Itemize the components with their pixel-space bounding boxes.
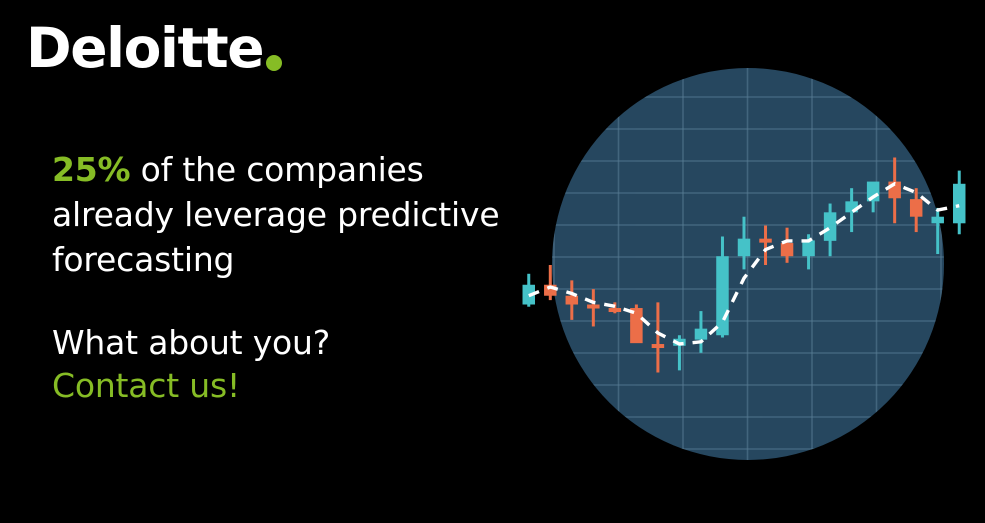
candle-body — [931, 217, 943, 224]
candle-body — [781, 243, 793, 256]
candle-body — [609, 308, 621, 312]
cta-action-link[interactable]: Contact us! — [52, 364, 502, 408]
candle-body — [759, 239, 771, 243]
headline: 25% of the companies already leverage pr… — [52, 148, 502, 283]
stat-value: 25% — [52, 150, 130, 189]
candlestick-chart — [500, 25, 985, 498]
candle-body — [652, 344, 664, 348]
candle-body — [566, 296, 578, 305]
candle-body — [587, 305, 599, 309]
cta-block: What about you? Contact us! — [52, 321, 502, 408]
cta-question: What about you? — [52, 321, 502, 365]
candlestick-chart-svg — [500, 25, 985, 498]
logo-wordmark: Deloitte — [26, 21, 263, 76]
deloitte-logo: Deloitte — [26, 21, 282, 76]
candle-body — [716, 256, 728, 335]
candle-body — [910, 199, 922, 217]
candle-body — [738, 239, 750, 257]
candle-body — [695, 329, 707, 340]
candle-body — [953, 184, 965, 224]
candle-body — [824, 212, 836, 241]
candle-body — [802, 240, 814, 256]
copy-block: 25% of the companies already leverage pr… — [52, 148, 502, 408]
promo-banner: Deloitte 25% of the companies already le… — [0, 0, 985, 523]
logo-dot-icon — [266, 55, 282, 71]
